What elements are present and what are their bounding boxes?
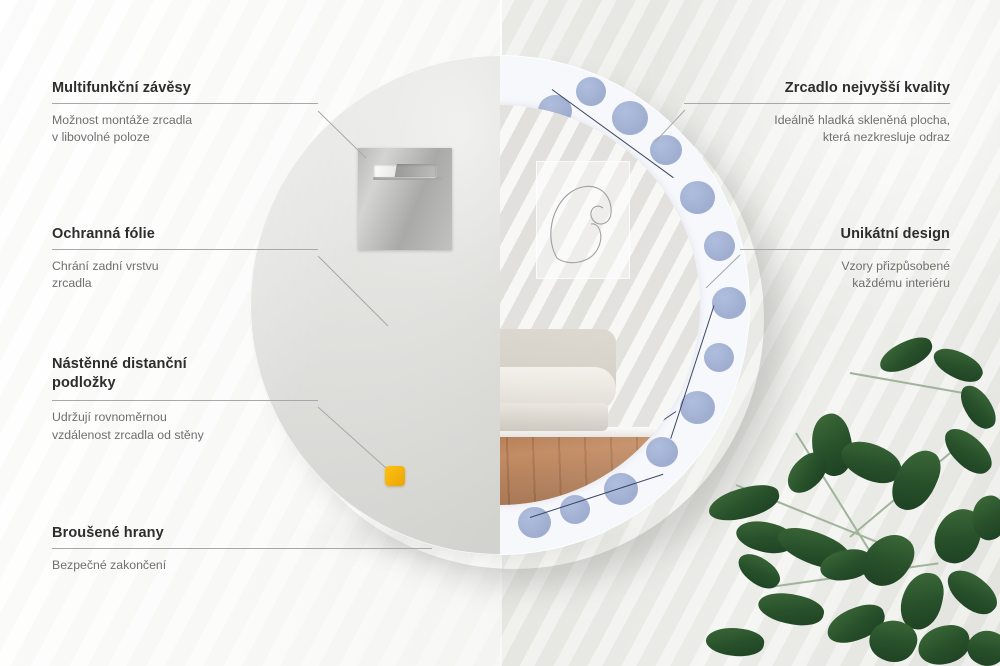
callout-multifunkcni-zavesy: Multifunkční závěsy Možnost montáže zrca… xyxy=(52,80,318,147)
plant-leaf xyxy=(941,561,1000,623)
plant-leaf xyxy=(733,546,785,595)
callout-brousene-hrany: Broušené hrany Bezpečné zakončení xyxy=(52,525,432,574)
callout-title: Nástěnné distanční podložky xyxy=(52,355,318,393)
callout-ochranna-folie: Ochranná fólie Chrání zadní vrstvu zrcad… xyxy=(52,226,318,293)
plant-leaf xyxy=(885,443,948,518)
plant-leaf xyxy=(938,420,998,482)
callout-description: Bezpečné zakončení xyxy=(52,557,432,574)
callout-title: Zrcadlo nejvyšší kvality xyxy=(684,80,950,96)
plant-leaf xyxy=(875,332,937,377)
callout-description: Udržují rovnoměrnou vzdálenost zrcadla o… xyxy=(52,409,318,444)
callout-rule xyxy=(740,249,950,250)
callout-description: Chrání zadní vrstvu zrcadla xyxy=(52,258,318,293)
leader-line-foil xyxy=(318,256,388,326)
callout-rule xyxy=(52,103,318,104)
leader-line-hanger xyxy=(318,111,366,158)
callout-title: Multifunkční závěsy xyxy=(52,80,318,96)
callout-rule xyxy=(52,249,318,250)
callout-description: Vzory přizpůsobené každému interiéru xyxy=(740,258,950,293)
plant-leaf xyxy=(916,623,973,666)
plant-leaf xyxy=(706,481,783,525)
callout-nastenne-distancni-podlozky: Nástěnné distanční podložky Udržují rovn… xyxy=(52,355,318,444)
callout-title: Unikátní design xyxy=(740,226,950,242)
callout-title: Broušené hrany xyxy=(52,525,432,541)
callout-zrcadlo-nejvyssi-kvality: Zrcadlo nejvyšší kvality Ideálně hladká … xyxy=(684,80,950,147)
callout-rule xyxy=(684,103,950,104)
callout-description: Možnost montáže zrcadla v libovolné polo… xyxy=(52,112,318,147)
plant-leaf xyxy=(962,623,1000,666)
plant-leaf xyxy=(929,341,987,390)
callout-description: Ideálně hladká skleněná plocha, která ne… xyxy=(684,112,950,147)
plant-leaf xyxy=(704,624,765,660)
callout-rule xyxy=(52,548,432,549)
leader-line-pad xyxy=(318,407,386,468)
infographic-canvas: Multifunkční závěsy Možnost montáže zrca… xyxy=(0,0,1000,666)
leader-line-glass xyxy=(655,110,685,142)
callout-rule xyxy=(52,400,318,401)
plant-leaf xyxy=(955,380,1000,435)
decorative-plant xyxy=(700,336,1000,666)
leader-line-design xyxy=(706,255,740,288)
plant-leaf xyxy=(755,586,826,631)
callout-title: Ochranná fólie xyxy=(52,226,318,242)
callout-unikatni-design: Unikátní design Vzory přizpůsobené každé… xyxy=(740,226,950,293)
